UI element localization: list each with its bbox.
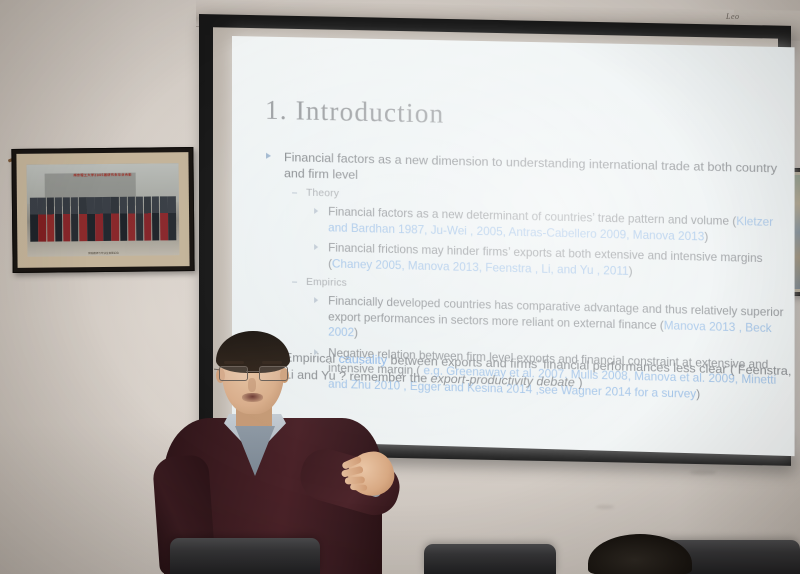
section-heading-text: Empirics [306, 277, 347, 289]
speaker-mouth [242, 393, 263, 402]
bullet-triangle-icon [314, 208, 318, 214]
speaker-eyebrow-right [262, 361, 282, 364]
finger [350, 484, 367, 491]
class-photo-image: 南京理工大学2005届研究生毕业合影 [27, 163, 180, 257]
dash-bullet-icon [292, 282, 297, 283]
dash-bullet-icon [292, 192, 297, 193]
point-tail: ) [629, 264, 633, 277]
lens-right [259, 366, 288, 381]
bullet-triangle-icon [266, 153, 271, 159]
glasses-temple [214, 369, 220, 371]
ceiling-marking-label: Leo [726, 12, 740, 21]
chair-center [424, 544, 556, 574]
class-photo-people-row [30, 196, 176, 242]
closing-tail: ) [575, 375, 583, 389]
speaker-nose [248, 378, 256, 392]
closing-italic: export-productivity debate [431, 371, 575, 389]
framed-class-photo: 南京理工大学2005届研究生毕业合影 [11, 147, 194, 273]
lens-left [219, 366, 248, 381]
slide-main-bullet: Financial factors as a new dimension to … [244, 148, 790, 193]
slide-point: Financial frictions may hinder firms’ ex… [244, 238, 790, 283]
slide-title: 1. Introduction [265, 95, 444, 130]
lecture-room-photo: Leo 南京理工大学2005届研究生毕业合影 [0, 0, 800, 574]
wall-scuff [596, 505, 614, 509]
slide-main-bullet-text: Financial factors as a new dimension to … [284, 150, 777, 182]
glasses-bridge [246, 371, 259, 372]
class-photo-caption: 学院教师与毕业生合影纪念 [27, 250, 179, 256]
point-tail: ) [704, 230, 708, 243]
bullet-triangle-icon [314, 297, 318, 303]
wall-scuff [690, 470, 716, 475]
photo-mat: 南京理工大学2005届研究生毕业合影 [16, 152, 189, 268]
chair-left [170, 538, 320, 574]
section-heading-text: Theory [306, 188, 339, 200]
speaker-eyebrow-left [224, 361, 244, 364]
bullet-triangle-icon [314, 244, 318, 250]
